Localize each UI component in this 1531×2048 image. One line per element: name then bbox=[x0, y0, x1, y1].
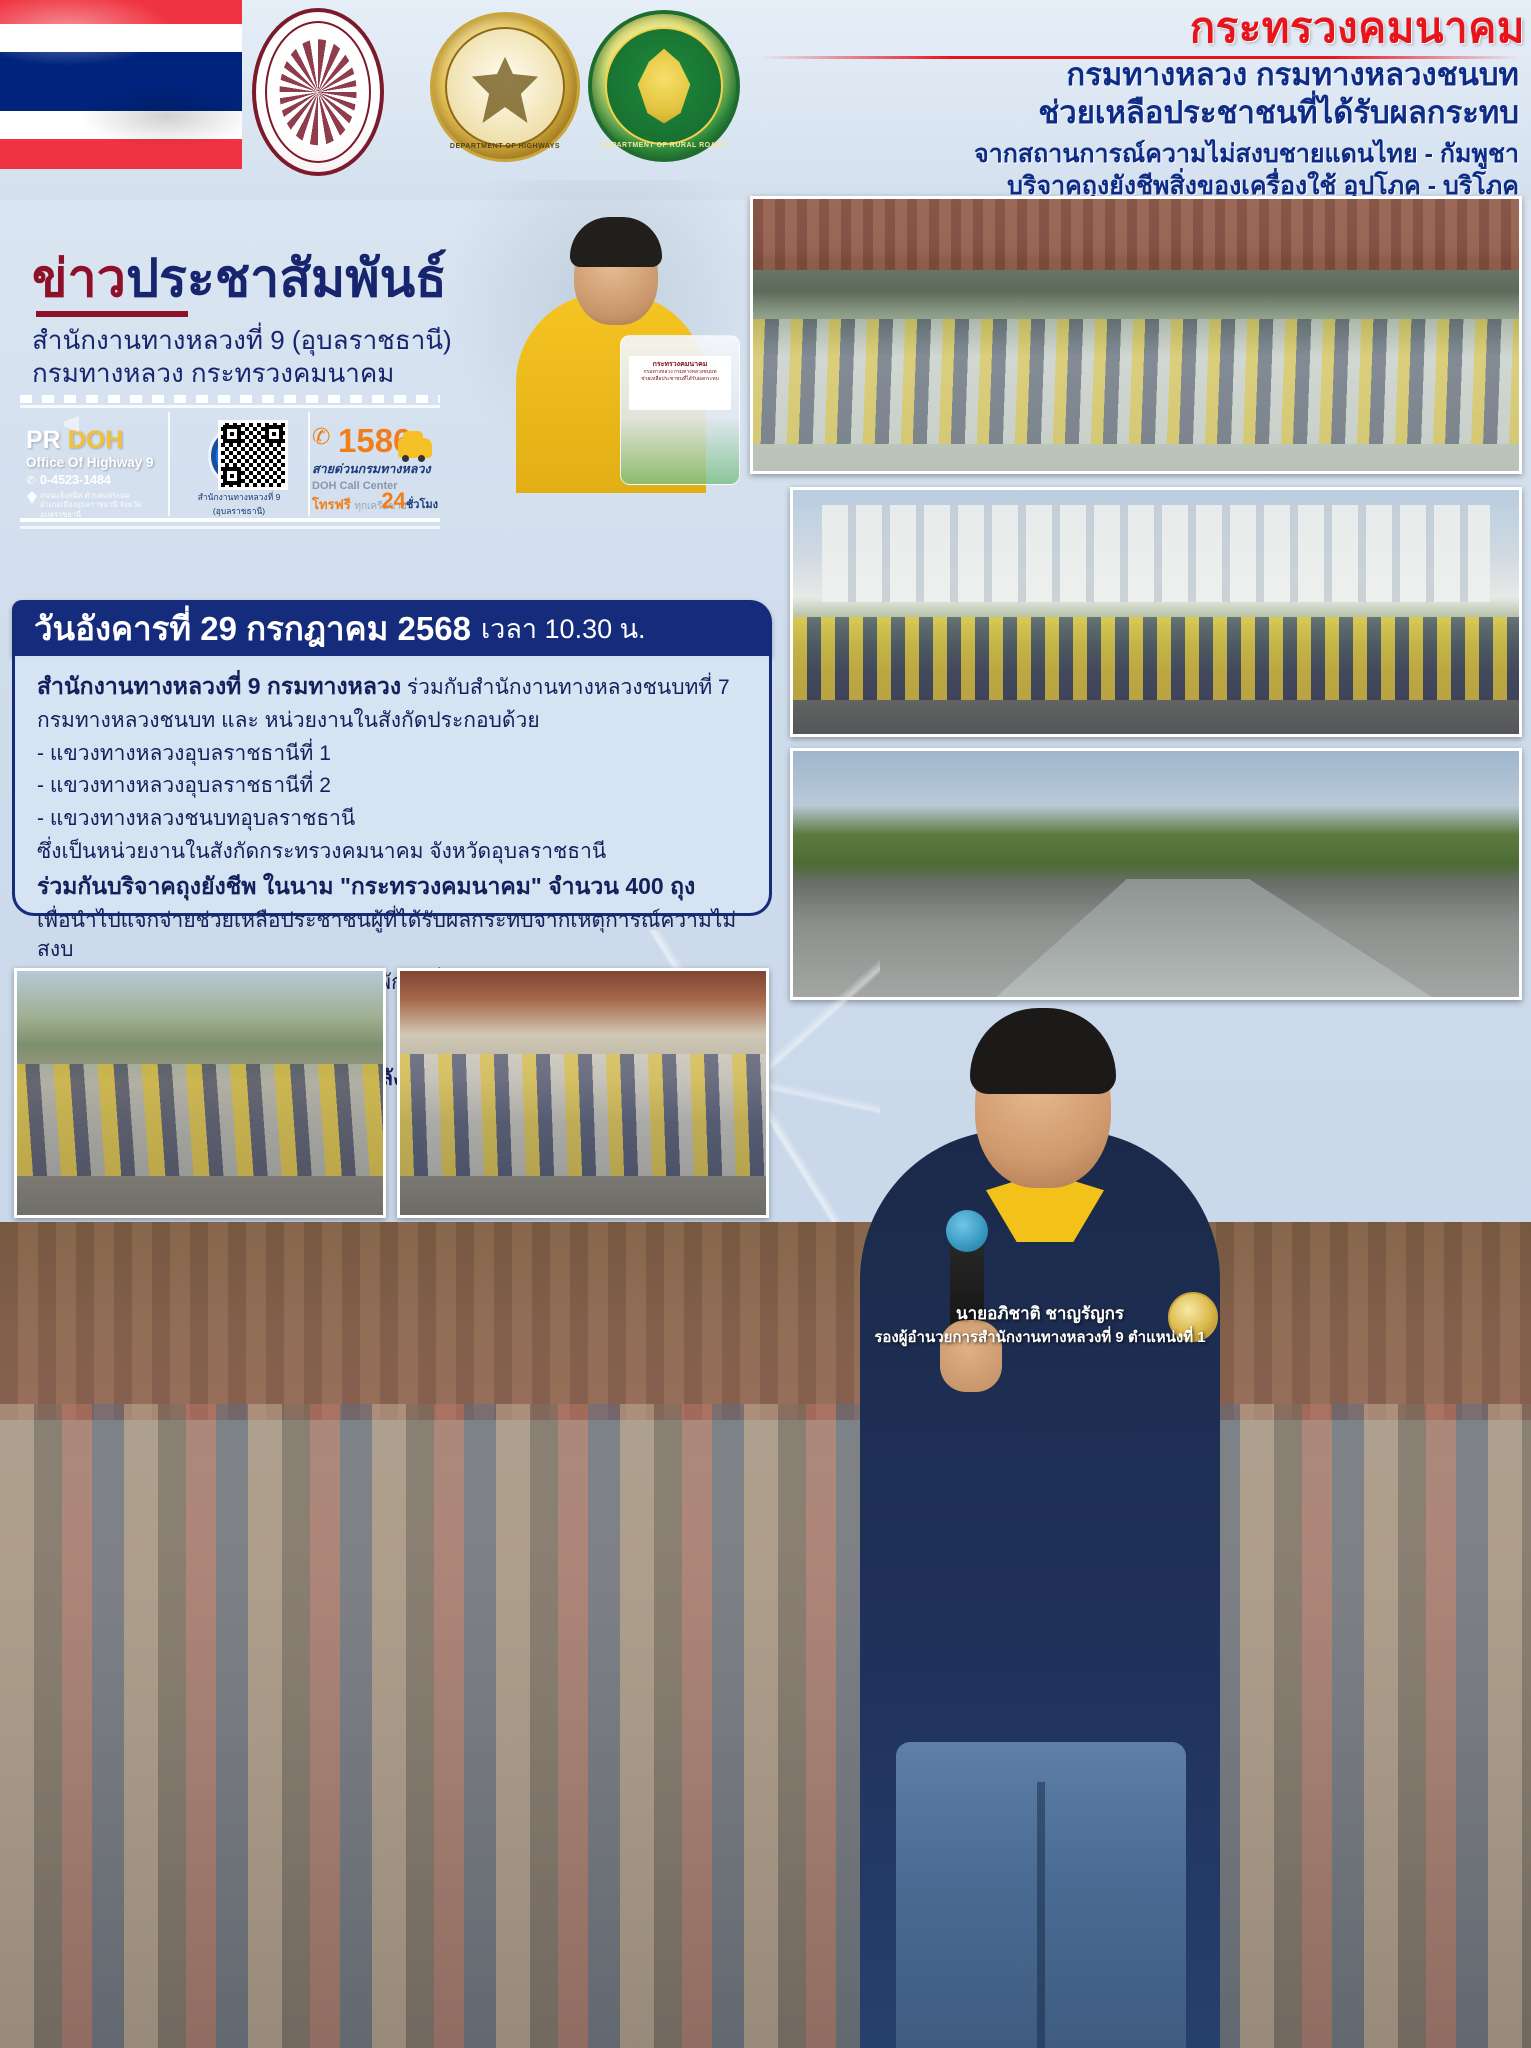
body-org-rest: ร่วมกับสำนักงานทางหลวงชนบทที่ 7 bbox=[401, 676, 730, 699]
office-of-highway-9-label: Office Of Highway 9 bbox=[26, 455, 162, 470]
hotline-free-text: โทรฟรี bbox=[312, 497, 351, 512]
garuda-seal-icon bbox=[252, 8, 384, 176]
body-donation-highlight: ร่วมกันบริจาคถุงยังชีพ ในนาม "กระทรวงคมน… bbox=[37, 870, 749, 903]
photo-mid-fill bbox=[400, 971, 766, 1215]
header-line-3: ช่วยเหลือประชาชนที่ได้รับผลกระทบ bbox=[719, 96, 1519, 131]
photo-crowd-fill bbox=[0, 1222, 1531, 2048]
telephone-icon: ✆ bbox=[312, 426, 334, 448]
photo-distribution-outdoor bbox=[14, 968, 386, 1218]
thai-flag-icon bbox=[0, 0, 242, 169]
service-hours-number: 24 bbox=[381, 488, 405, 513]
ministry-title: กระทรวงคมนาคม bbox=[745, 6, 1525, 50]
speaker-position: รองผู้อำนวยการสำนักงานทางหลวงที่ 9 ตำแหน… bbox=[800, 1325, 1280, 1349]
pr-doh-logo: PR DOH bbox=[26, 428, 162, 453]
body-list-item-2: - แขวงทางหลวงอุบลราชธานีที่ 2 bbox=[37, 771, 749, 801]
officer-with-relief-bag-photo: กระทรวงคมนาคม กรมทางหลวง กรมทางหลวงชนบท … bbox=[470, 185, 770, 485]
map-pin-icon bbox=[27, 491, 37, 504]
photo-group-fill bbox=[753, 199, 1519, 471]
qr-finder-bottom-left bbox=[223, 467, 241, 485]
qr-finder-top-left bbox=[223, 425, 241, 443]
photo-deputy-director bbox=[800, 900, 1270, 2048]
relief-bag: กระทรวงคมนาคม กรมทางหลวง กรมทางหลวงชนบท … bbox=[620, 335, 740, 485]
poster-root: DEPARTMENT OF HIGHWAYS DEPARTMENT OF RUR… bbox=[0, 0, 1531, 2048]
photo-evacuees-crowd bbox=[0, 1222, 1531, 2048]
pr-word: PR bbox=[26, 426, 61, 454]
photo-handover-ceremony bbox=[397, 968, 769, 1218]
divider-line-top bbox=[20, 405, 440, 408]
officer-hair bbox=[570, 217, 662, 267]
body-list-item-1: - แขวงทางหลวงอุบลราชธานีที่ 1 bbox=[37, 739, 749, 769]
divider-line-bottom-1 bbox=[20, 518, 440, 522]
office-phone-number: 0-4523-1484 bbox=[40, 473, 111, 487]
photo-building-fill bbox=[793, 490, 1519, 734]
body-list-item-3: - แขวงทางหลวงชนบทอุบลราชธานี bbox=[37, 804, 749, 834]
date-bar: วันอังคารที่ 29 กรกฎาคม 2568 เวลา 10.30 … bbox=[12, 600, 772, 656]
photo-left1-fill bbox=[17, 971, 383, 1215]
body-paragraph-1: สำนักงานทางหลวงที่ 9 กรมทางหลวง ร่วมกับส… bbox=[37, 670, 749, 703]
hotline-label-thai: สายด่วนกรมทางหลวง bbox=[312, 459, 434, 479]
qr-code[interactable] bbox=[218, 420, 288, 490]
speaker-name: นายอภิชาติ ชาญรัญกร bbox=[820, 1300, 1260, 1327]
doh-seal-label: DEPARTMENT OF HIGHWAYS bbox=[433, 143, 577, 150]
body-paragraph-3: ซึ่งเป็นหน่วยงานในสังกัดกระทรวงคมนาคม จั… bbox=[37, 837, 749, 867]
facebook-page-name: สำนักงานทางหลวงที่ 9 (อุบลราชธานี) bbox=[176, 490, 302, 518]
header-band: DEPARTMENT OF HIGHWAYS DEPARTMENT OF RUR… bbox=[0, 0, 1531, 200]
event-date: วันอังคารที่ 29 กรกฎาคม 2568 bbox=[34, 602, 471, 655]
office-phone[interactable]: ✆ 0-4523-1484 bbox=[26, 473, 162, 487]
event-time: เวลา 10.30 น. bbox=[481, 607, 646, 650]
page-title-highlight: ข่าว bbox=[32, 250, 126, 308]
body-paragraph-2: กรมทางหลวงชนบท และ หน่วยงานในสังกัดประกอ… bbox=[37, 706, 749, 736]
body-org-bold: สำนักงานทางหลวงที่ 9 กรมทางหลวง bbox=[37, 673, 401, 699]
relief-bag-label: กระทรวงคมนาคม กรมทางหลวง กรมทางหลวงชนบท … bbox=[629, 356, 731, 410]
page-title-rest: ประชาสัมพันธ์ bbox=[126, 250, 447, 308]
service-hours-unit: ชั่วโมง bbox=[406, 499, 438, 511]
photo-office-building bbox=[790, 487, 1522, 737]
qr-finder-top-right bbox=[265, 425, 283, 443]
page-title: ข่าวประชาสัมพันธ์ bbox=[32, 253, 447, 305]
taxi-icon bbox=[398, 438, 432, 458]
department-name: กรมทางหลวง กระทรวงคมนาคม bbox=[32, 353, 394, 394]
body-paragraph-5: เพื่อนำไปแจกจ่ายช่วยเหลือประชาชนผู้ที่ได… bbox=[37, 906, 749, 966]
call-center-block[interactable]: ✆ 1586 สายด่วนกรมทางหลวง DOH Call Center… bbox=[308, 412, 440, 516]
service-hours: 24ชั่วโมง bbox=[381, 488, 438, 514]
office-address-line2: อำเภอเมืองอุบลราชธานี จังหวัดอุบลราชธานี bbox=[40, 500, 142, 518]
relief-bag-line2: ช่วยเหลือประชาชนที่ได้รับผลกระทบ bbox=[629, 376, 731, 383]
announcement-body: สำนักงานทางหลวงที่ 9 กรมทางหลวง ร่วมกับส… bbox=[12, 656, 772, 916]
speaker-jeans bbox=[896, 1742, 1186, 2048]
pr-office-block: PR DOH Office Of Highway 9 ✆ 0-4523-1484… bbox=[20, 412, 168, 516]
divider-line-bottom-2 bbox=[20, 526, 440, 529]
speaker-hair bbox=[970, 1008, 1116, 1094]
header-line-2: กรมทางหลวง กรมทางหลวงชนบท bbox=[719, 58, 1519, 93]
office-address: ถนนแจ้งสนิท ตำบลแจระแม อำเภอเมืองอุบลราช… bbox=[26, 491, 162, 519]
department-of-highways-seal-icon: DEPARTMENT OF HIGHWAYS bbox=[430, 12, 580, 162]
phone-icon: ✆ bbox=[26, 474, 35, 487]
page-title-underline bbox=[36, 311, 188, 317]
office-address-line1: ถนนแจ้งสนิท ตำบลแจระแม bbox=[40, 491, 130, 500]
divider-dashes-top bbox=[20, 395, 440, 403]
relief-bag-title: กระทรวงคมนาคม bbox=[629, 360, 731, 369]
photo-group-under-shelter bbox=[750, 196, 1522, 474]
